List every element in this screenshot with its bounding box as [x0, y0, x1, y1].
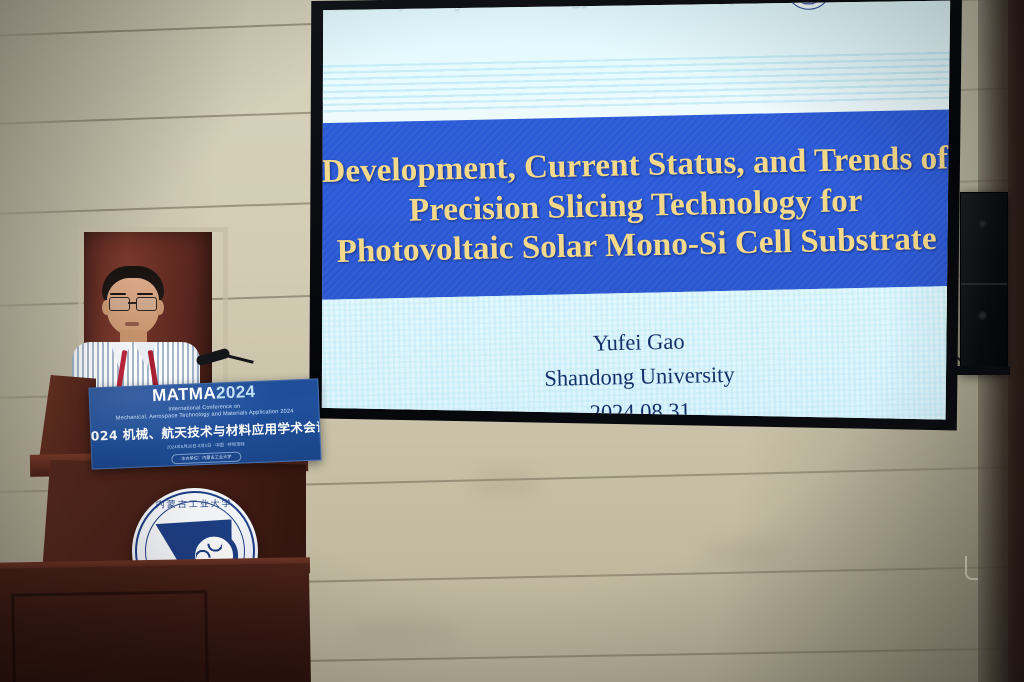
presentation-screen[interactable]: 2024 3rd International Conference on Mec…	[306, 0, 966, 444]
eyeglasses-lens-left	[109, 297, 130, 311]
slide-title-block: Development, Current Status, and Trends …	[306, 109, 966, 301]
banner-title-year: 2024	[216, 382, 256, 403]
emblem-name-cn: 内蒙古工业大学	[131, 496, 257, 511]
speaker-driver	[978, 311, 987, 320]
conference-photo-scene: 2024 3rd International Conference on Mec…	[0, 0, 1024, 682]
wall-texture	[700, 540, 790, 562]
stage-panel-inset	[11, 590, 209, 682]
wall-texture	[470, 470, 540, 496]
banner-host-cn: 主办单位：内蒙古工业大学	[171, 451, 242, 464]
person-mouth	[125, 322, 139, 326]
podium-banner: MATMA2024 International Conference on Me…	[88, 378, 321, 469]
loudspeaker-icon	[960, 192, 1008, 374]
wall-corner-edge	[1008, 0, 1024, 682]
banner-title: MATMA2024	[152, 383, 256, 404]
slide-surface: 2024 3rd International Conference on Mec…	[306, 0, 966, 444]
speaker-driver	[978, 219, 987, 228]
eyeglasses-bridge	[128, 302, 136, 304]
eyeglasses-lens-right	[136, 297, 157, 311]
wall-texture	[350, 620, 460, 644]
wall-hook-icon	[965, 556, 978, 580]
emblem-wave-shape	[196, 544, 222, 558]
banner-subtitle-cn: 2024年8月30日-9月1日 · 中国 · 呼和浩特	[167, 441, 245, 450]
banner-title-main: MATMA	[152, 384, 217, 406]
